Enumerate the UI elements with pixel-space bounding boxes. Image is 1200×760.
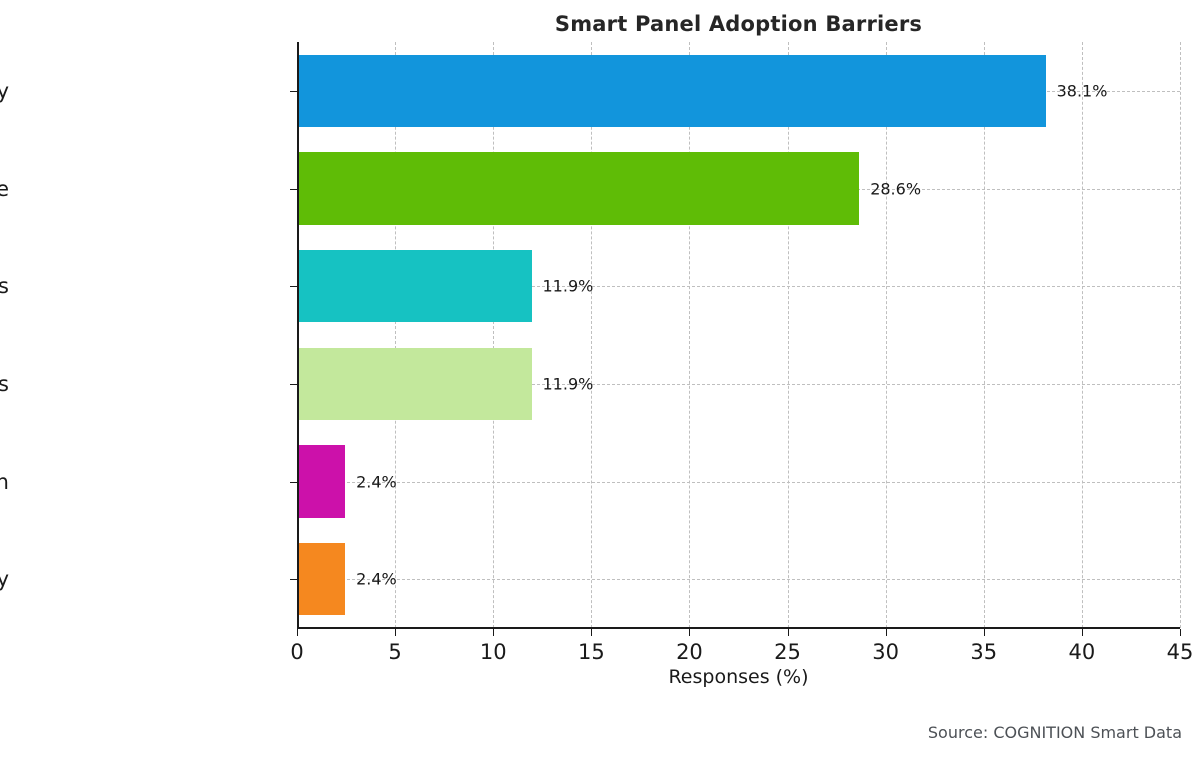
gridline-vertical-45 bbox=[1180, 42, 1181, 628]
chart-title: Smart Panel Adoption Barriers bbox=[297, 12, 1180, 36]
gridline-vertical-35 bbox=[984, 42, 985, 628]
gridline-vertical-30 bbox=[886, 42, 887, 628]
y-axis-label-3: Demand from buyers bbox=[0, 372, 9, 396]
source-note: Source: COGNITION Smart Data bbox=[928, 723, 1182, 742]
x-tick-label-45: 45 bbox=[1150, 640, 1200, 664]
x-tick-label-0: 0 bbox=[267, 640, 327, 664]
plot-area: 38.1%28.6%11.9%11.9%2.4%2.4% 05101520253… bbox=[297, 42, 1180, 628]
bar-value-label: 28.6% bbox=[870, 179, 921, 198]
bar[interactable] bbox=[298, 55, 1046, 127]
x-tick-40 bbox=[1082, 629, 1083, 636]
x-tick-0 bbox=[297, 629, 298, 636]
y-tick-2 bbox=[290, 286, 297, 287]
x-tick-label-35: 35 bbox=[954, 640, 1014, 664]
y-axis-label-0: Lack of familiarity bbox=[0, 79, 9, 103]
y-axis-label-5: Availability bbox=[0, 567, 9, 591]
bar[interactable] bbox=[298, 445, 345, 517]
gridline-horizontal-5 bbox=[297, 579, 1180, 580]
x-tick-35 bbox=[984, 629, 985, 636]
gridline-vertical-40 bbox=[1082, 42, 1083, 628]
y-axis-spine bbox=[297, 42, 299, 628]
bar-value-label: 38.1% bbox=[1057, 81, 1108, 100]
gridline-vertical-25 bbox=[788, 42, 789, 628]
bar-value-label: 11.9% bbox=[543, 374, 594, 393]
x-tick-label-5: 5 bbox=[365, 640, 425, 664]
x-tick-10 bbox=[493, 629, 494, 636]
y-axis-label-4: Use alternate solution bbox=[0, 470, 9, 494]
x-tick-label-30: 30 bbox=[856, 640, 916, 664]
x-tick-label-15: 15 bbox=[561, 640, 621, 664]
x-tick-25 bbox=[788, 629, 789, 636]
bar[interactable] bbox=[298, 348, 532, 420]
bar-value-label: 2.4% bbox=[356, 570, 397, 589]
gridline-vertical-10 bbox=[493, 42, 494, 628]
bar-chart: Smart Panel Adoption Barriers 38.1%28.6%… bbox=[0, 0, 1200, 760]
gridline-vertical-15 bbox=[591, 42, 592, 628]
bar-value-label: 11.9% bbox=[543, 277, 594, 296]
x-tick-45 bbox=[1180, 629, 1181, 636]
x-tick-label-20: 20 bbox=[659, 640, 719, 664]
x-tick-20 bbox=[689, 629, 690, 636]
x-axis-spine bbox=[297, 627, 1180, 629]
y-tick-3 bbox=[290, 384, 297, 385]
bar[interactable] bbox=[298, 250, 532, 322]
y-tick-4 bbox=[290, 482, 297, 483]
y-tick-5 bbox=[290, 579, 297, 580]
y-tick-0 bbox=[290, 91, 297, 92]
gridline-horizontal-4 bbox=[297, 482, 1180, 483]
y-axis-label-2: Use smart panels bbox=[0, 274, 9, 298]
bar-value-label: 2.4% bbox=[356, 472, 397, 491]
x-tick-label-10: 10 bbox=[463, 640, 523, 664]
x-tick-label-25: 25 bbox=[758, 640, 818, 664]
y-axis-label-1: Price bbox=[0, 177, 9, 201]
bar[interactable] bbox=[298, 152, 859, 224]
x-tick-30 bbox=[886, 629, 887, 636]
y-tick-1 bbox=[290, 189, 297, 190]
x-tick-label-40: 40 bbox=[1052, 640, 1112, 664]
gridline-vertical-20 bbox=[689, 42, 690, 628]
x-axis-title: Responses (%) bbox=[297, 666, 1180, 688]
gridline-vertical-5 bbox=[395, 42, 396, 628]
x-tick-15 bbox=[591, 629, 592, 636]
bar[interactable] bbox=[298, 543, 345, 615]
x-tick-5 bbox=[395, 629, 396, 636]
